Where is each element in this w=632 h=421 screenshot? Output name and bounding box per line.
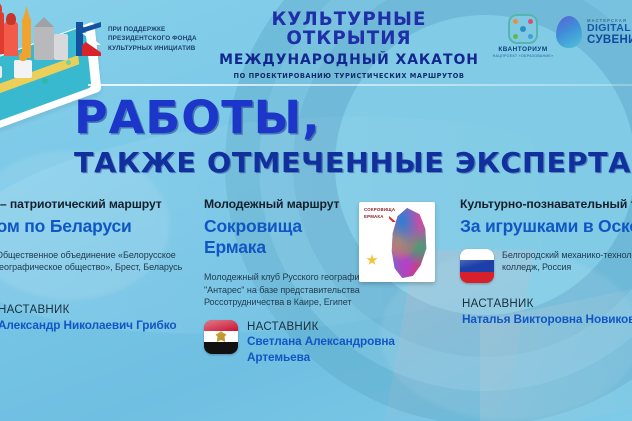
entry-card-egypt: Молодежный маршрут Сокровища Ермака СОКР… (204, 197, 440, 365)
entry-kicker: Культурно-познавательный тур (460, 197, 632, 213)
flag-russia-icon (460, 249, 494, 283)
entry-route-name: Сокровища Ермака (204, 216, 352, 259)
mentor-label: НАСТАВНИК (247, 320, 440, 335)
headline-line-2: ТАКЖЕ ОТМЕЧЕННЫЕ ЭКСПЕРТАМИ (74, 149, 632, 177)
mentor-label: НАСТАВНИК (0, 303, 188, 318)
entry-route-name: Пешком по Беларуси (0, 216, 188, 237)
entry-kicker: Молодежный маршрут (204, 197, 352, 213)
header-divider (88, 84, 632, 86)
headline-line-1: РАБОТЫ, (74, 96, 632, 140)
entries-row: Военно – патриотический маршрут Пешком п… (0, 197, 632, 421)
event-subtitle: МЕЖДУНАРОДНЫЙ ХАКАТОН (218, 51, 479, 69)
ermak-poster-thumbnail: СОКРОВИЩА ЕРМАКА (359, 202, 435, 282)
kvantorium-sub: НАЦПРОЕКТ «ОБРАЗОВАНИЕ» (492, 54, 554, 58)
presidential-fund-logo: ПРИ ПОДДЕРЖКЕ ПРЕЗИДЕНТСКОГО ФОНДА КУЛЬТ… (76, 16, 220, 62)
digital-souvenir-logo: МАСТЕРСКАЯ DIGITAL СУВЕНИР (556, 16, 632, 48)
entry-organization: Белгородский механико-технологический ко… (502, 249, 632, 274)
mentor-name: Наталья Викторовна Новикова (462, 312, 632, 327)
digital-souvenir-mark-icon (556, 16, 582, 48)
entry-organization: Общественное объединение «Белорусское ге… (0, 249, 188, 274)
digital-souvenir-line-2: СУВЕНИР (587, 34, 632, 46)
poster-title-line-1: СОКРОВИЩА (364, 207, 395, 214)
entry-card-russia: Культурно-познавательный тур За игрушкам… (460, 197, 632, 327)
entry-card-belarus: Военно – патриотический маршрут Пешком п… (0, 197, 188, 333)
fund-line-2: ПРЕЗИДЕНТСКОГО ФОНДА (108, 34, 197, 43)
entry-kicker: Военно – патриотический маршрут (0, 197, 188, 213)
slide-headline: РАБОТЫ, ТАКЖЕ ОТМЕЧЕННЫЕ ЭКСПЕРТАМИ (74, 96, 632, 177)
fund-line-3: КУЛЬТУРНЫХ ИНИЦИАТИВ (108, 44, 197, 53)
poster-slide: ПРИ ПОДДЕРЖКЕ ПРЕЗИДЕНТСКОГО ФОНДА КУЛЬТ… (0, 0, 632, 421)
kvantorium-atom-icon (508, 14, 538, 44)
mentor-label: НАСТАВНИК (462, 297, 632, 312)
event-tagline: ПО ПРОЕКТИРОВАНИЮ ТУРИСТИЧЕСКИХ МАРШРУТО… (213, 72, 485, 80)
poster-star-icon (366, 254, 378, 266)
mentor-name: Светлана Александровна Артемьева (247, 334, 440, 365)
event-title-lockup: КУЛЬТУРНЫЕ ОТКРЫТИЯ МЕЖДУНАРОДНЫЙ ХАКАТО… (213, 10, 485, 80)
flag-egypt-icon (204, 320, 238, 354)
fund-line-1: ПРИ ПОДДЕРЖКЕ (108, 25, 197, 34)
mentor-name: Александр Николаевич Грибко (0, 318, 188, 333)
entry-route-name: За игрушками в Оскол (460, 216, 632, 237)
poster-header: ПРИ ПОДДЕРЖКЕ ПРЕЗИДЕНТСКОГО ФОНДА КУЛЬТ… (0, 0, 632, 86)
event-title: КУЛЬТУРНЫЕ ОТКРЫТИЯ (218, 10, 479, 48)
kvantorium-name: КВАНТОРИУМ (492, 46, 554, 53)
presidential-fund-mark-icon (76, 22, 102, 56)
kvantorium-logo: КВАНТОРИУМ НАЦПРОЕКТ «ОБРАЗОВАНИЕ» (492, 14, 554, 58)
digital-souvenir-line-1: DIGITAL (587, 23, 632, 34)
